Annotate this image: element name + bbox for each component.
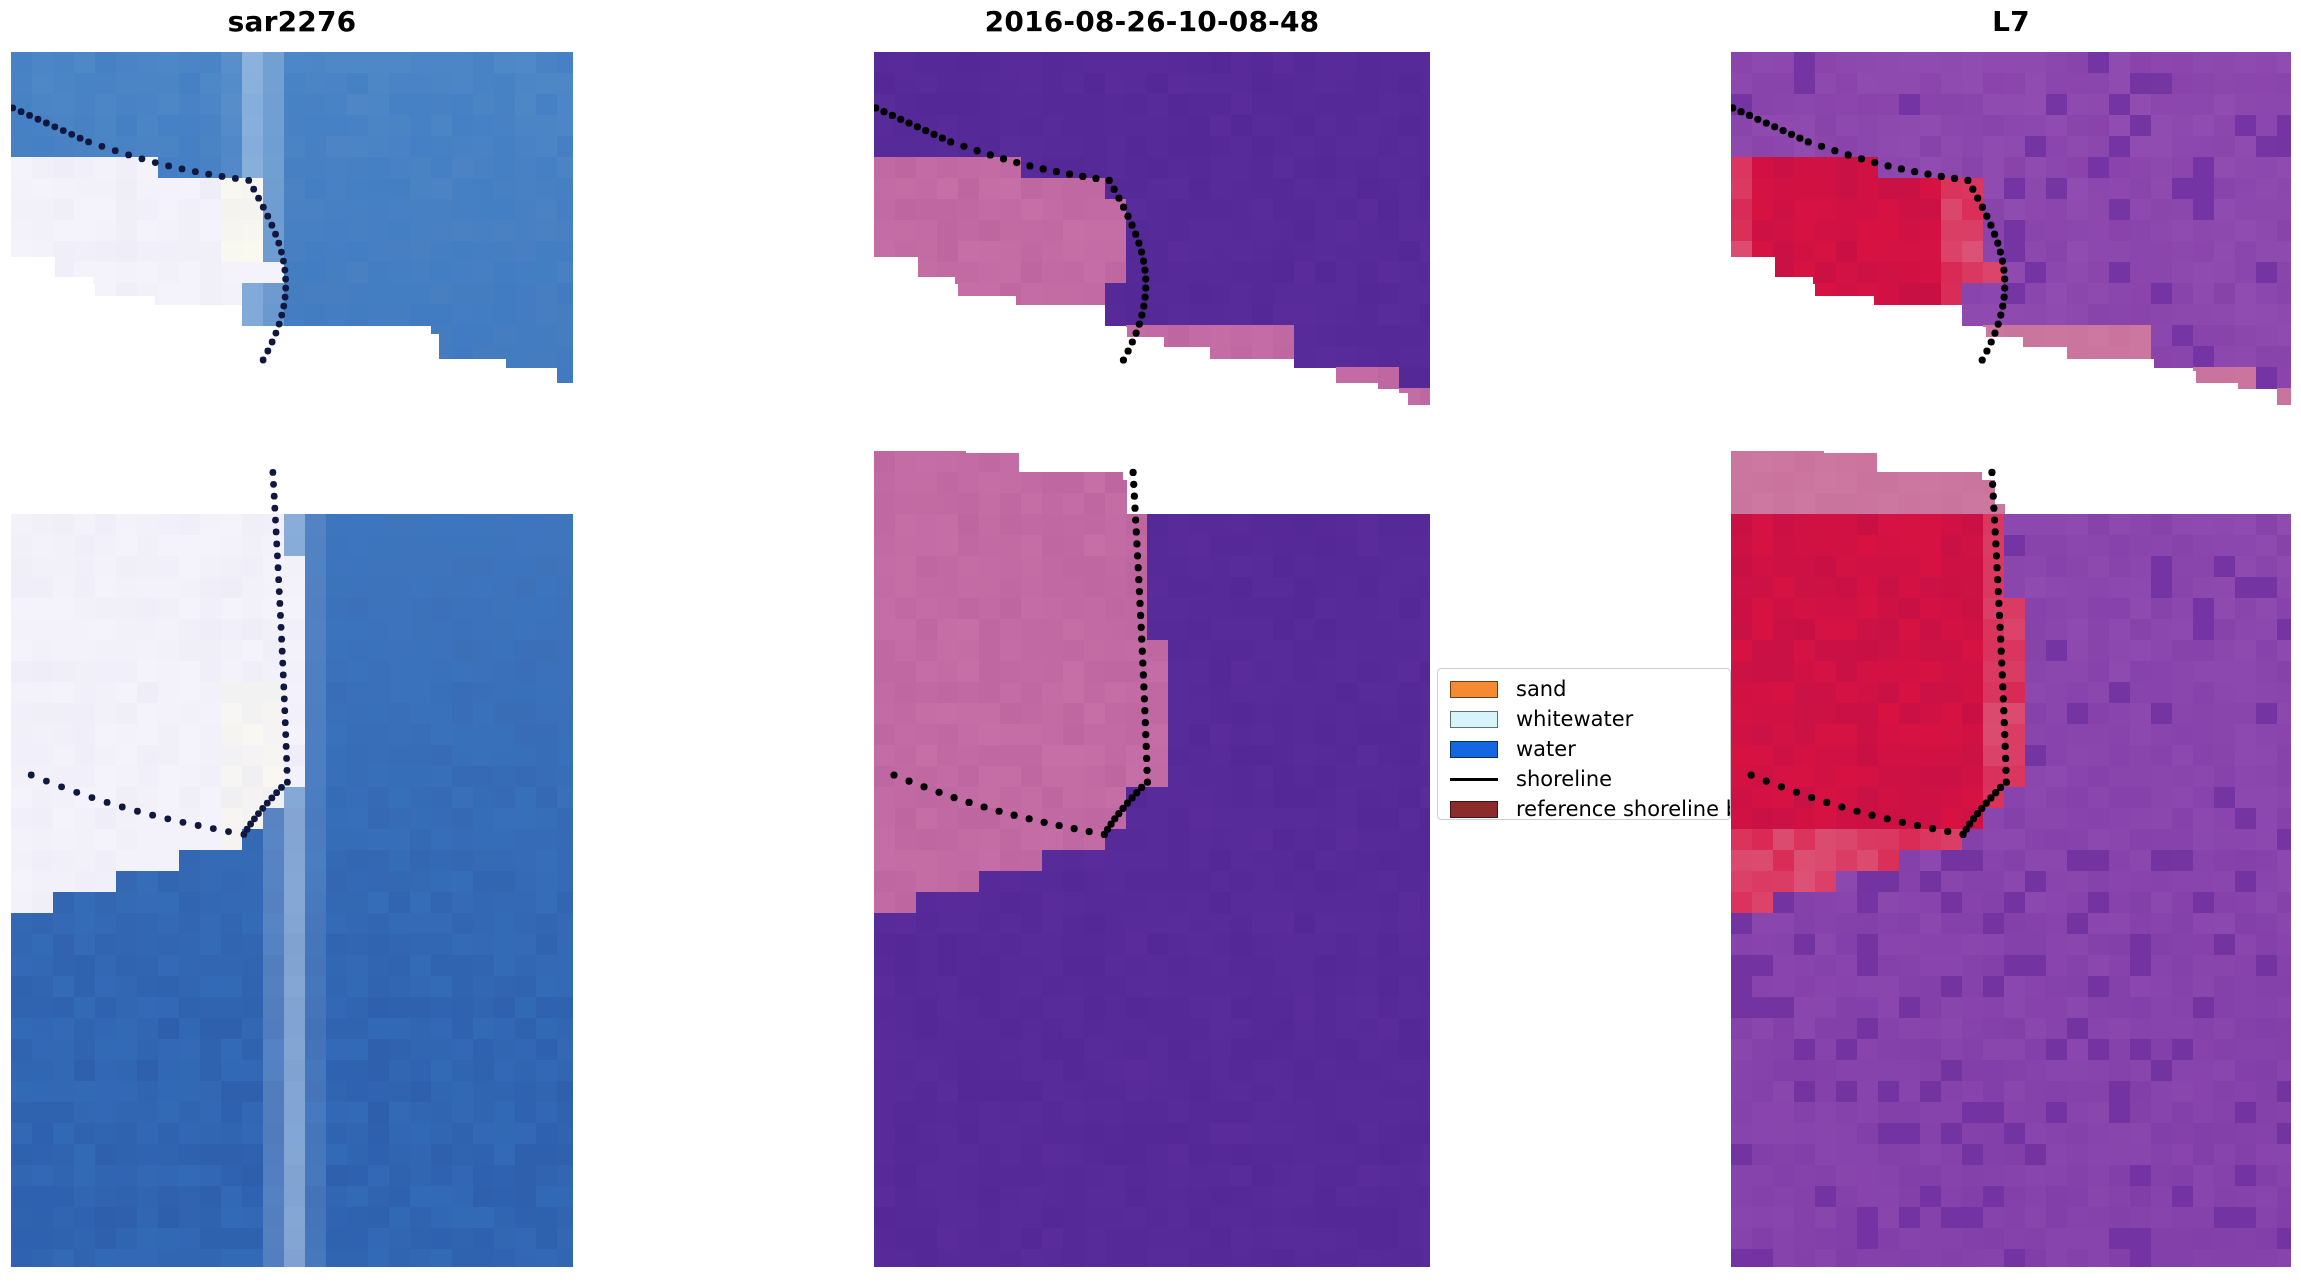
whitewater-color-patch [1450, 711, 1498, 728]
legend-label-whitewater: whitewater [1516, 704, 1633, 734]
legend-item-water: water [1438, 734, 1730, 764]
legend-item-shoreline: shoreline [1438, 764, 1730, 794]
legend-item-sand: sand [1438, 674, 1730, 704]
legend-swatch-reference-buffer [1450, 794, 1504, 820]
legend-swatch-whitewater [1450, 704, 1504, 734]
legend-label-reference-shoreline-buffer: reference shoreline buffer [1516, 794, 1731, 820]
legend-item-reference-shoreline-buffer: reference shoreline buffer [1438, 794, 1730, 820]
legend-swatch-sand [1450, 674, 1504, 704]
reference-buffer-color-patch [1450, 801, 1498, 818]
legend-label-shoreline: shoreline [1516, 764, 1612, 794]
water-color-patch [1450, 741, 1498, 758]
legend-swatch-shoreline [1450, 764, 1504, 794]
legend-box: sand whitewater water shoreline referenc… [1437, 668, 1731, 820]
figure-root: sar2276 2016-08-26-10-08-48 L7 sand whit… [0, 0, 2301, 1283]
legend-label-sand: sand [1516, 674, 1566, 704]
sand-color-patch [1450, 681, 1498, 698]
panel-sar-image [11, 52, 573, 1267]
legend-item-whitewater: whitewater [1438, 704, 1730, 734]
panel-l7-image [1731, 52, 2291, 1267]
legend-swatch-water [1450, 734, 1504, 764]
panel-classification-image [874, 52, 1430, 1267]
legend-label-water: water [1516, 734, 1576, 764]
panel-title-sar: sar2276 [11, 5, 573, 39]
shoreline-line-sample [1450, 778, 1498, 781]
panel-title-l7: L7 [1731, 5, 2291, 39]
panel-title-classification: 2016-08-26-10-08-48 [874, 5, 1430, 39]
